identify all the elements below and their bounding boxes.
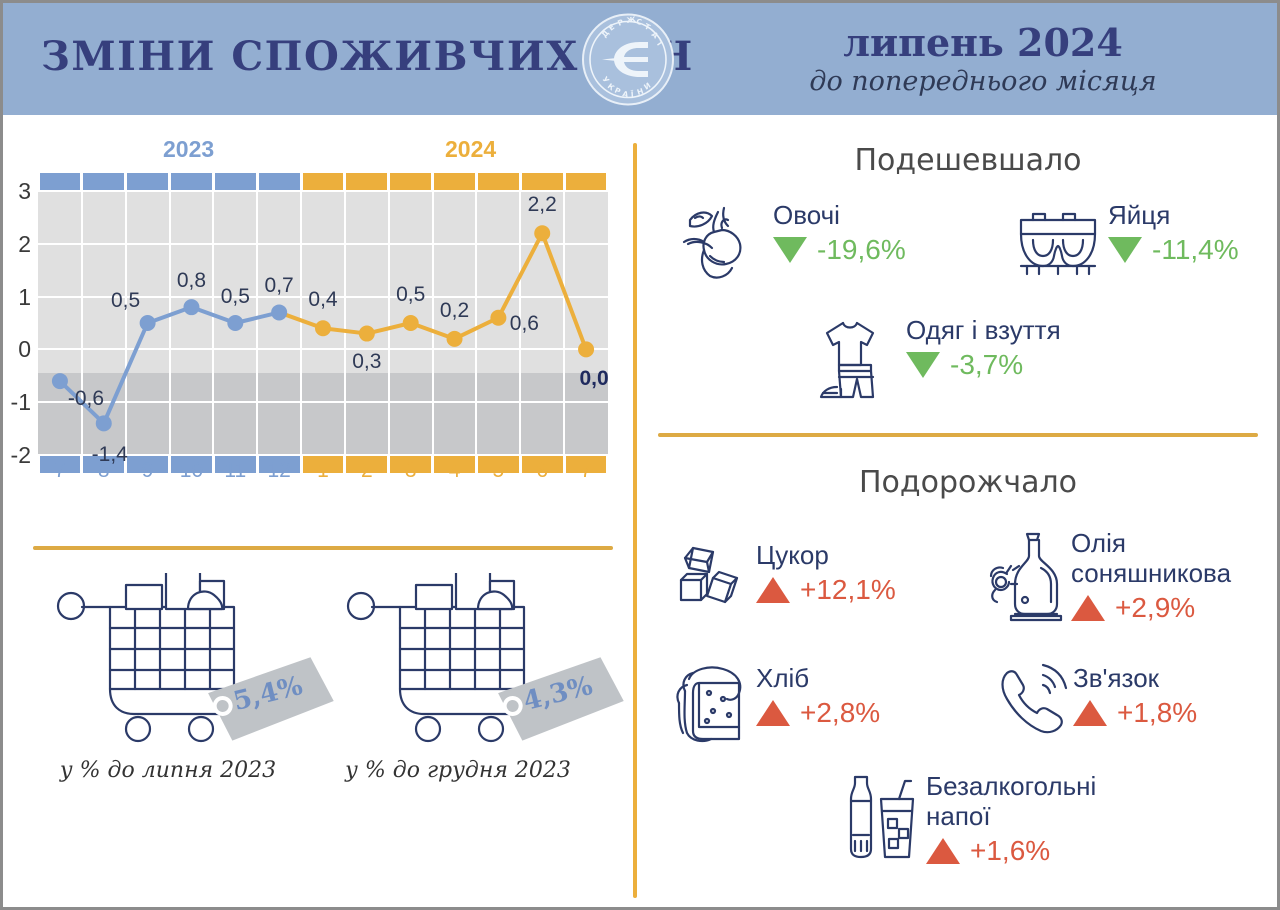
arrow-up-icon [1071,595,1105,621]
vegetables-icon [678,198,768,288]
arrow-up-icon [1073,700,1107,726]
item-change: +12,1% [756,574,896,606]
arrow-up-icon [756,700,790,726]
chart-point-label: 0,8 [177,269,206,293]
phone-icon [993,661,1073,746]
item-text: Зв'язок +1,8% [1073,663,1197,729]
chart-plot-area: 3210-1-2 7891011121234567 -0,6-1,40,50,8… [38,173,608,473]
item-label-line1: Олія [1071,528,1126,558]
cart-block-july: 5,4% у % до липня 2023 [18,563,318,748]
section-title-pricier: Подорожчало [658,465,1278,500]
chart-year-label-2024: 2024 [445,136,496,163]
chart-point [140,315,156,331]
item-change: +1,8% [1073,697,1197,729]
chart-y-tick: -1 [5,389,31,416]
chart-point [578,341,594,357]
clothing-shoes-icon [811,313,901,408]
chart-point-label: 0,3 [352,350,381,374]
item-label: Одяг і взуття [906,315,1061,345]
item-change: -3,7% [906,349,1061,381]
item-value: -11,4% [1152,234,1239,266]
chart-point [52,373,68,389]
chart-point-label: 0,7 [265,274,294,298]
cpi-line-chart: 2023 2024 3210-1-2 7891011121234567 -0,6… [3,128,633,518]
bread-icon [671,661,756,751]
item-text: Цукор +12,1% [756,540,896,606]
arrow-down-icon [773,237,807,263]
sugar-cubes-icon [671,538,751,623]
item-text: Олія соняшникова +2,9% [1071,528,1231,624]
item-label: Цукор [756,540,829,570]
arrow-down-icon [1108,237,1142,263]
chart-y-tick: 1 [5,284,31,311]
chart-point [359,326,375,342]
item-value: +2,8% [800,697,880,729]
chart-year-label-2023: 2023 [163,136,214,163]
item-value: -19,6% [817,234,906,266]
header-month: липень 2024 [703,21,1263,65]
item-text: Безалкогольні напої +1,6% [926,771,1096,867]
item-change: -11,4% [1108,234,1239,266]
chart-y-tick: 0 [5,336,31,363]
vertical-divider [633,143,637,898]
arrow-down-icon [906,352,940,378]
arrow-up-icon [926,838,960,864]
chart-point [227,315,243,331]
sunflower-oil-icon [981,528,1071,628]
chart-point-label: 0,0 [579,367,608,391]
infographic-page: ЗМІНИ СПОЖИВЧИХ ЦІН Д Е Р Ж С Т А Т У К … [0,0,1280,910]
chart-y-tick: -2 [5,442,31,469]
item-value: +1,6% [970,835,1050,867]
chart-point-label: 0,4 [308,288,337,312]
chart-point-label: 0,5 [111,289,140,313]
item-value: +12,1% [800,574,896,606]
item-label-line1: Безалкогольні [926,771,1096,801]
cart-caption-0: у % до липня 2023 [18,758,318,783]
chart-y-tick: 2 [5,231,31,258]
chart-point-label: 0,5 [396,283,425,307]
chart-point-label: 0,5 [221,285,250,309]
divider-left [33,546,613,550]
item-change: +2,8% [756,697,880,729]
item-text: Овочі -19,6% [773,200,906,266]
item-label: Хліб [756,663,809,693]
item-change: -19,6% [773,234,906,266]
item-label: Овочі [773,200,840,230]
item-label: Яйця [1108,200,1170,230]
header-period: липень 2024 до попереднього місяця [703,21,1263,99]
chart-point-label: -1,4 [92,443,128,467]
item-text: Одяг і взуття -3,7% [906,315,1061,381]
chart-point [490,310,506,326]
header-subtitle: до попереднього місяця [703,65,1263,99]
cart-art: 4,3% [308,563,608,748]
chart-point [403,315,419,331]
chart-point-label: 0,2 [440,299,469,323]
item-label: Зв'язок [1073,663,1159,693]
item-text: Яйця -11,4% [1108,200,1239,266]
divider-right [658,433,1258,437]
item-text: Хліб +2,8% [756,663,880,729]
arrow-up-icon [756,577,790,603]
item-value: -3,7% [950,349,1023,381]
chart-point [447,331,463,347]
section-title-cheaper: Подешевшало [658,143,1278,178]
chart-point [271,304,287,320]
cart-art: 5,4% [18,563,318,748]
item-value: +2,9% [1115,592,1195,624]
chart-point [183,299,199,315]
cart-comparison-section: 5,4% у % до липня 2023 [3,563,633,863]
soft-drinks-icon [841,771,921,866]
item-change: +1,6% [926,835,1096,867]
chart-point-label: -0,6 [68,387,104,411]
chart-point [534,225,550,241]
cart-block-december: 4,3% у % до грудня 2023 [308,563,608,748]
chart-point [315,320,331,336]
derzhstat-ukrainy-logo: Д Е Р Ж С Т А Т У К Р А Ї Н И [578,11,678,108]
chart-y-tick: 3 [5,178,31,205]
cart-caption-1: у % до грудня 2023 [308,758,608,783]
item-change: +2,9% [1071,592,1231,624]
egg-carton-icon [1013,198,1103,288]
chart-point-label: 2,2 [528,193,557,217]
item-value: +1,8% [1117,697,1197,729]
header-banner: ЗМІНИ СПОЖИВЧИХ ЦІН Д Е Р Ж С Т А Т У К … [3,3,1280,115]
item-label-line2: напої [926,801,991,831]
chart-point-label: 0,6 [510,312,539,336]
item-label-line2: соняшникова [1071,558,1231,588]
chart-point [96,415,112,431]
